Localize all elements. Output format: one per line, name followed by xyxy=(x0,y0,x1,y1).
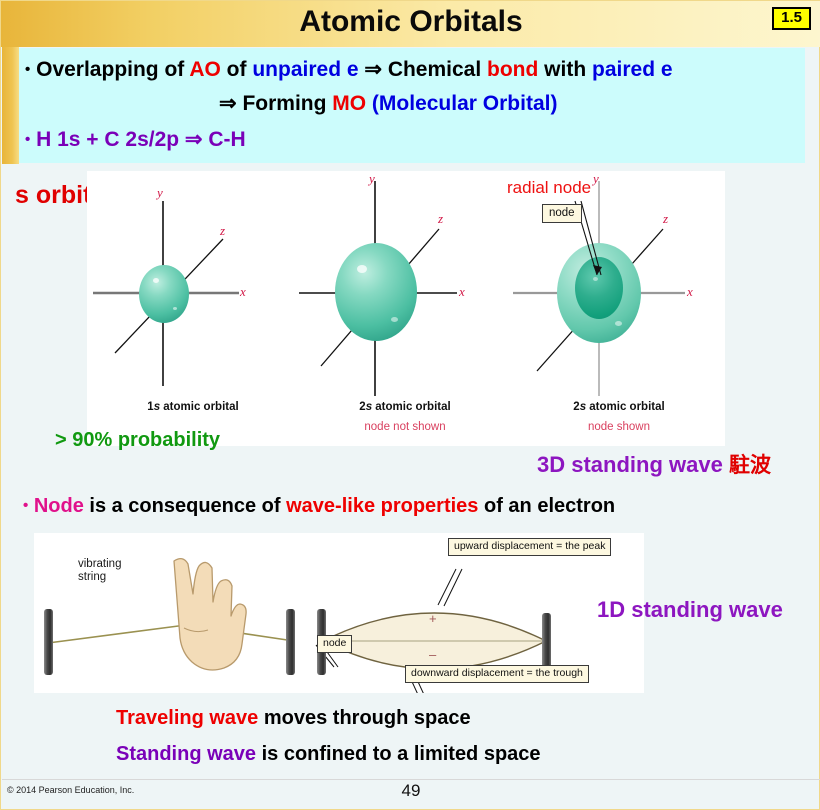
subcaption-2s-node: node shown xyxy=(513,421,725,433)
orbital-cell-2s-nonode: y x z 2s atomic orbital node not shown xyxy=(299,171,511,446)
vibrating-string-line2: string xyxy=(78,571,106,583)
caption-2s-node: 2s atomic orbital xyxy=(513,401,725,413)
node-callout-string: node xyxy=(317,635,352,653)
bullet-arrow-1: ⇒ xyxy=(359,58,388,81)
sphere-highlight xyxy=(593,277,598,281)
bullet-text-ch: H 1s + C 2s/2p ⇒ C-H xyxy=(36,128,246,151)
orbital-cell-1s: y x z 1s atomic orbital xyxy=(87,171,299,446)
slide-canvas: Atomic Orbitals 1.5 • Overlapping of AO … xyxy=(0,0,820,810)
caption-suffix: atomic orbital xyxy=(372,401,451,413)
bullet-text-ao: AO xyxy=(189,58,221,81)
plus-sign-label: + xyxy=(429,611,437,626)
post-left xyxy=(44,609,53,675)
bullet-dot-3: • xyxy=(23,497,28,514)
axis-label-y-2s-node: y xyxy=(593,171,599,187)
subcaption-2s-nonode: node not shown xyxy=(299,421,511,433)
caption-suffix: atomic orbital xyxy=(586,401,665,413)
bullet-line-ch-bond: • H 1s + C 2s/2p ⇒ C-H xyxy=(25,128,246,152)
summary-line-standing: Standing wave is confined to a limited s… xyxy=(116,743,541,766)
axis-label-y-2s-nonode: y xyxy=(369,171,375,187)
bullet-line-overlapping: • Overlapping of AO of unpaired e ⇒ Chem… xyxy=(25,58,673,82)
traveling-wave-keyword: Traveling wave xyxy=(116,707,258,729)
bullet-arrow-2: ⇒ xyxy=(219,92,242,115)
axis-label-x-2s-node: x xyxy=(687,284,693,300)
post-middle-left xyxy=(286,609,295,675)
sphere-highlight-small xyxy=(173,307,177,310)
bullet-text-forming: Forming xyxy=(242,92,332,115)
bullet-text-paired: paired e xyxy=(592,58,673,81)
wavelike-keyword: wave-like properties xyxy=(286,495,478,517)
summary-line-traveling: Traveling wave moves through space xyxy=(116,707,471,730)
hand-icon xyxy=(174,559,246,670)
node-bullet-seg2: of an electron xyxy=(478,495,615,517)
trough-callout: downward displacement = the trough xyxy=(405,665,589,683)
bullet-text-unpaired: unpaired e xyxy=(252,58,358,81)
caption-suffix: atomic orbital xyxy=(160,401,239,413)
axis-label-z-1s: z xyxy=(220,223,225,239)
axis-label-z-2s-nonode: z xyxy=(438,211,443,227)
left-gold-rail xyxy=(2,47,19,164)
standing-wave-1d-label: 1D standing wave xyxy=(597,597,783,623)
bullet-text-seg3: Chemical xyxy=(388,58,487,81)
axis-label-x-1s: x xyxy=(240,284,246,300)
standing-wave-rest: is confined to a limited space xyxy=(256,743,541,765)
sphere-highlight-small xyxy=(615,321,622,326)
traveling-wave-rest: moves through space xyxy=(258,707,470,729)
axis-label-z-2s-node: z xyxy=(663,211,668,227)
page-title: Atomic Orbitals xyxy=(1,5,820,39)
minus-sign-label: – xyxy=(429,647,436,662)
post-right xyxy=(542,613,551,669)
bullet-text-seg4: with xyxy=(538,58,592,81)
section-badge: 1.5 xyxy=(772,7,811,30)
standing-wave-keyword: Standing wave xyxy=(116,743,256,765)
axes-1s xyxy=(87,171,299,411)
peak-callout: upward displacement = the peak xyxy=(448,538,611,556)
bullet-text-molecular-orbital: (Molecular Orbital) xyxy=(366,92,557,115)
standing-wave-figure-panel: vibrating string node upward displacemen… xyxy=(34,533,644,693)
orbital-sphere-2s xyxy=(335,243,417,341)
probability-label: > 90% probability xyxy=(55,429,220,452)
sphere-highlight xyxy=(357,265,367,273)
radial-node-label: radial node xyxy=(507,178,591,198)
axis-label-y-1s: y xyxy=(157,185,163,201)
bullet-text-mo: MO xyxy=(332,92,366,115)
bullet-dot-2: • xyxy=(25,131,30,148)
sphere-highlight xyxy=(153,278,159,283)
vibrating-string-line1: vibrating xyxy=(78,558,121,570)
bullet-line-forming-mo: ⇒ Forming MO (Molecular Orbital) xyxy=(219,92,557,116)
node-bullet-line: • Node is a consequence of wave-like pro… xyxy=(23,495,615,518)
orbital-figure-panel: y x z 1s atomic orbital y x z xyxy=(87,171,725,446)
bullet-text-seg1: Overlapping of xyxy=(36,58,189,81)
caption-1s: 1s atomic orbital xyxy=(87,401,299,413)
bullet-dot: • xyxy=(25,61,30,78)
bullet-text-seg2: of xyxy=(221,58,253,81)
intro-bullet-box: • Overlapping of AO of unpaired e ⇒ Chem… xyxy=(19,48,805,163)
header-band: Atomic Orbitals 1.5 xyxy=(1,1,820,47)
vibrating-string-label: vibrating string xyxy=(78,558,121,584)
sphere-highlight-small xyxy=(391,317,398,322)
standing-wave-3d-text: 3D standing wave xyxy=(537,452,729,477)
bullet-text-bond: bond xyxy=(487,58,538,81)
orbital-sphere-1s xyxy=(139,265,189,323)
standing-wave-3d-label: 3D standing wave 駐波 xyxy=(537,449,771,479)
orbital-core-2s-inner xyxy=(575,257,623,319)
page-number: 49 xyxy=(1,781,820,801)
node-keyword: Node xyxy=(34,495,84,517)
standing-wave-3d-cjk: 駐波 xyxy=(729,453,771,477)
footer-divider xyxy=(2,779,820,780)
node-callout-orbital: node xyxy=(542,204,582,223)
node-bullet-seg1: is a consequence of xyxy=(84,495,286,517)
caption-2s-nonode: 2s atomic orbital xyxy=(299,401,511,413)
axis-label-x-2s-nonode: x xyxy=(459,284,465,300)
